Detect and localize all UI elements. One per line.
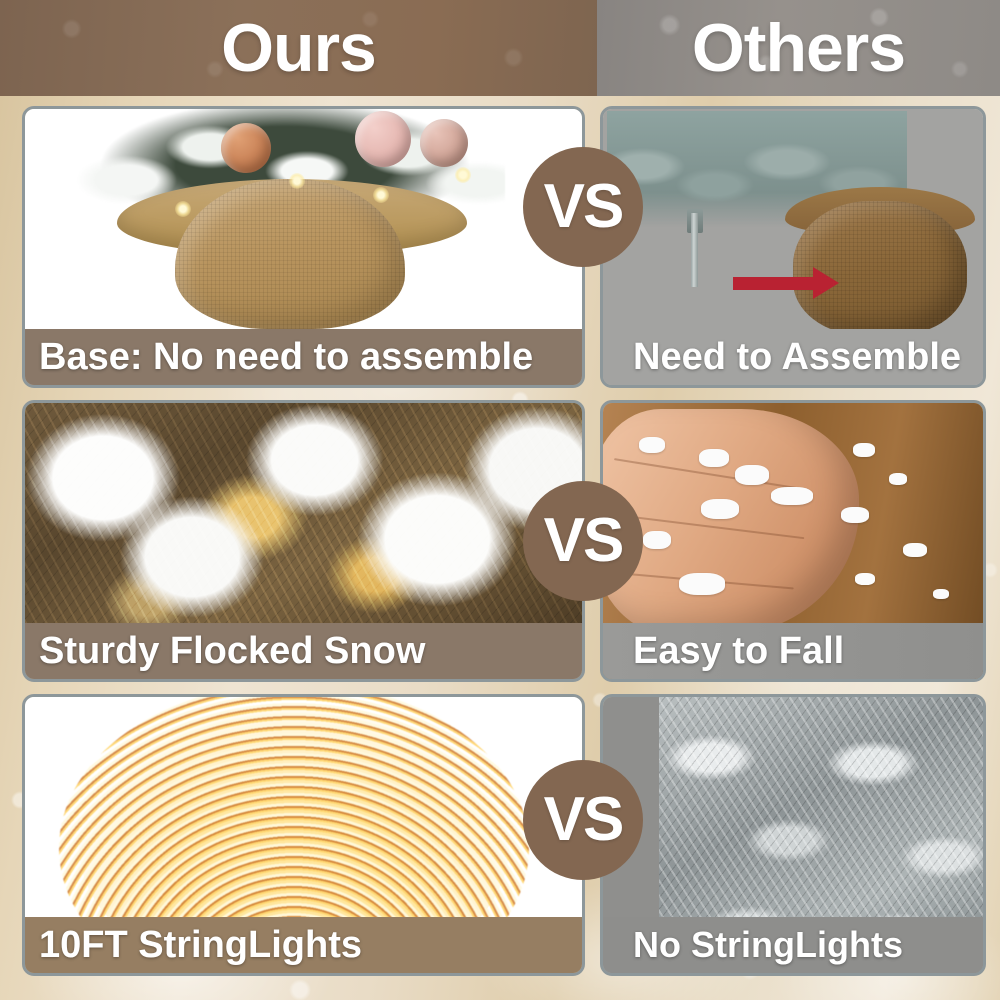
- light-glow: [455, 167, 471, 183]
- vs-badge-base-label: VS: [544, 176, 623, 238]
- header-others-title: Others: [692, 14, 905, 82]
- header-bar: Ours Others: [0, 0, 1000, 96]
- unlit-gray-flocked-branches-photo: No StringLights: [603, 697, 983, 973]
- header-ours-title: Ours: [221, 14, 376, 82]
- vs-badge-lights-label: VS: [544, 789, 623, 851]
- others-panel-flocking: Easy to Fall: [600, 400, 986, 682]
- others-caption-lights: No StringLights: [603, 917, 983, 973]
- others-panel-base: Need to Assemble: [600, 106, 986, 388]
- comparison-infographic: Ours Others: [0, 0, 1000, 1000]
- ours-panel-flocking: Sturdy Flocked Snow: [22, 400, 585, 682]
- snow-flake-bit: [735, 465, 769, 485]
- snow-flake-bit: [699, 449, 729, 467]
- ours-caption-flocking-text: Sturdy Flocked Snow: [39, 632, 425, 670]
- flocked-snow-branches-closeup-photo: [25, 403, 582, 623]
- header-ours: Ours: [0, 0, 597, 96]
- vs-badge-flocking: VS: [523, 481, 643, 601]
- coiled-warm-string-lights-photo: [25, 697, 582, 917]
- comparison-row-base: Base: No need to assemble Need to Assemb…: [0, 106, 1000, 388]
- ours-caption-lights: 10FT StringLights: [25, 917, 582, 973]
- bare-tree-pole-and-separate-burlap-bag-photo: Need to Assemble: [603, 109, 983, 385]
- snow-flake-bit: [679, 573, 725, 595]
- ours-panel-base: Base: No need to assemble: [22, 106, 585, 388]
- comparison-rows: Base: No need to assemble Need to Assemb…: [0, 96, 1000, 1000]
- snow-flake-bit: [643, 531, 671, 549]
- header-others: Others: [597, 0, 1000, 96]
- ours-caption-lights-text: 10FT StringLights: [39, 926, 362, 964]
- red-arrow-head-icon: [813, 267, 839, 299]
- ornament-pink: [355, 111, 411, 167]
- vs-badge-base: VS: [523, 147, 643, 267]
- hand-with-fallen-snow-flakes-photo: Easy to Fall: [603, 403, 983, 679]
- ornament-rose: [420, 119, 468, 167]
- others-panel-lights: No StringLights: [600, 694, 986, 976]
- vs-badge-flocking-label: VS: [544, 510, 623, 572]
- ornament-copper: [221, 123, 271, 173]
- others-caption-flocking-text: Easy to Fall: [633, 632, 844, 670]
- red-arrow-shaft-icon: [733, 277, 815, 290]
- others-caption-flocking: Easy to Fall: [603, 623, 983, 679]
- others-caption-lights-text: No StringLights: [633, 927, 903, 963]
- snow-flake-bit: [889, 473, 907, 485]
- ours-caption-base: Base: No need to assemble: [25, 329, 582, 385]
- comparison-row-flocking: Sturdy Flocked Snow: [0, 400, 1000, 682]
- vs-badge-lights: VS: [523, 760, 643, 880]
- snow-flake-bit: [701, 499, 739, 519]
- ours-panel-lights: 10FT StringLights: [22, 694, 585, 976]
- snow-flake-bit: [933, 589, 949, 599]
- string-lights-coil: [59, 697, 529, 917]
- light-glow: [289, 173, 305, 189]
- tree-pole: [691, 213, 698, 287]
- ours-caption-base-text: Base: No need to assemble: [39, 338, 533, 376]
- snow-flake-bit: [639, 437, 665, 453]
- others-caption-base: Need to Assemble: [603, 329, 983, 385]
- light-glow: [175, 201, 191, 217]
- others-caption-base-text: Need to Assemble: [633, 338, 961, 376]
- ours-caption-flocking: Sturdy Flocked Snow: [25, 623, 582, 679]
- snow-flake-bit: [841, 507, 869, 523]
- comparison-row-lights: 10FT StringLights No StringLights VS: [0, 694, 1000, 976]
- snow-flake-bit: [853, 443, 875, 457]
- snow-flake-bit: [855, 573, 875, 585]
- snow-flake-bit: [903, 543, 927, 557]
- snow-flake-bit: [771, 487, 813, 505]
- flocked-tree-burlap-base-photo: [25, 109, 582, 329]
- light-glow: [373, 187, 389, 203]
